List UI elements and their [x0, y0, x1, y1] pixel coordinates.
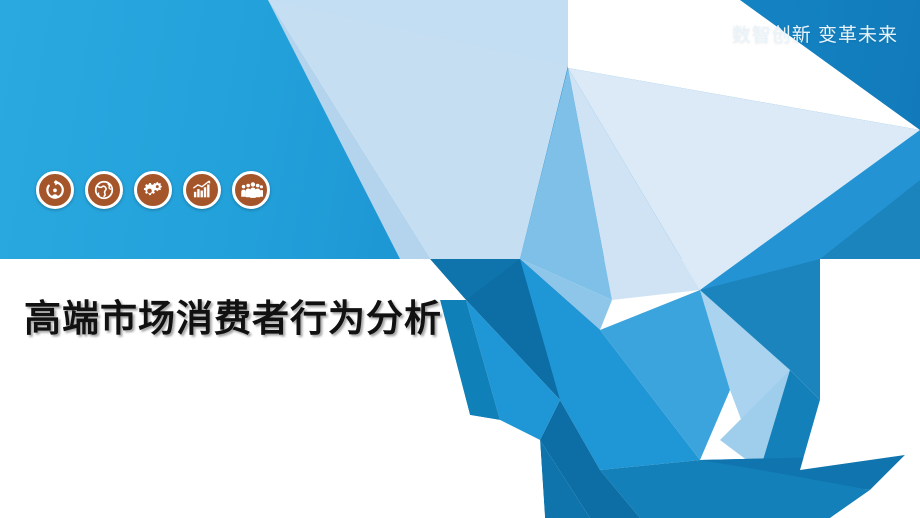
people-group-icon[interactable] — [232, 171, 270, 209]
bar-chart-icon[interactable] — [183, 171, 221, 209]
title-slide: 数智创新 变革未来 — [0, 0, 920, 518]
low-poly-arrow-artwork — [0, 0, 920, 518]
recycle-person-icon[interactable] — [36, 171, 74, 209]
icon-badge-row — [36, 171, 270, 209]
page-title: 高端市场消费者行为分析 — [24, 296, 442, 342]
tagline-text: 数智创新 变革未来 — [732, 26, 898, 45]
gears-icon[interactable] — [134, 171, 172, 209]
globe-icon[interactable] — [85, 171, 123, 209]
